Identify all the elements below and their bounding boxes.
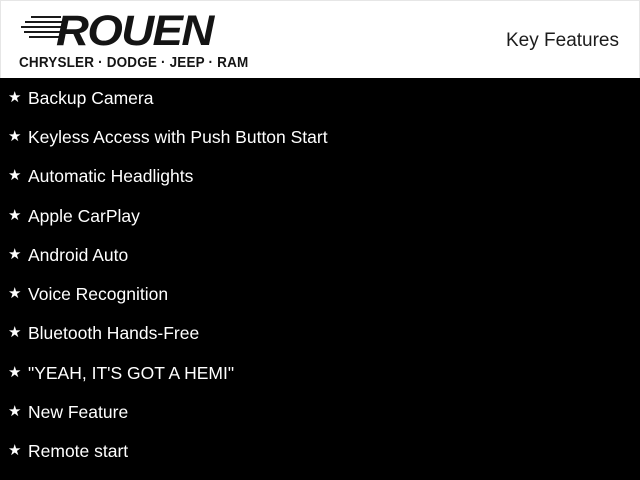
header-bar: ROUEN CHRYSLER · DODGE · JEEP · RAM Key … [0, 0, 640, 78]
feature-label: Backup Camera [28, 88, 640, 108]
list-item: ★ Android Auto [0, 235, 640, 274]
star-icon: ★ [8, 404, 28, 419]
logo-mark: ROUEN [15, 11, 215, 51]
list-item: ★ Remote start [0, 432, 640, 471]
feature-label: Bluetooth Hands-Free [28, 323, 640, 343]
star-icon: ★ [8, 247, 28, 262]
logo-wordmark: ROUEN [56, 9, 213, 53]
list-item: ★ Automatic Headlights [0, 157, 640, 196]
star-icon: ★ [8, 286, 28, 301]
star-icon: ★ [8, 365, 28, 380]
list-item: ★ Bluetooth Hands-Free [0, 314, 640, 353]
key-features-slide: ROUEN CHRYSLER · DODGE · JEEP · RAM Key … [0, 0, 640, 480]
list-item: ★ Keyless Access with Push Button Start [0, 117, 640, 156]
star-icon: ★ [8, 129, 28, 144]
feature-label: New Feature [28, 402, 640, 422]
feature-label: Keyless Access with Push Button Start [28, 127, 640, 147]
feature-label: Remote start [28, 441, 640, 461]
feature-label: Voice Recognition [28, 284, 640, 304]
list-item: ★ Apple CarPlay [0, 196, 640, 235]
list-item: ★ "YEAH, IT'S GOT A HEMI" [0, 353, 640, 392]
feature-label: Automatic Headlights [28, 166, 640, 186]
star-icon: ★ [8, 325, 28, 340]
list-item: ★ Backup Camera [0, 78, 640, 117]
feature-label: "YEAH, IT'S GOT A HEMI" [28, 363, 640, 383]
dealership-logo[interactable]: ROUEN CHRYSLER · DODGE · JEEP · RAM [15, 11, 215, 71]
star-icon: ★ [8, 90, 28, 105]
logo-subtitle: CHRYSLER · DODGE · JEEP · RAM [19, 55, 248, 71]
feature-label: Android Auto [28, 245, 640, 265]
star-icon: ★ [8, 443, 28, 458]
features-list: ★ Backup Camera ★ Keyless Access with Pu… [0, 78, 640, 480]
list-item: ★ New Feature [0, 392, 640, 431]
star-icon: ★ [8, 208, 28, 223]
list-item: ★ Voice Recognition [0, 274, 640, 313]
page-title: Key Features [506, 30, 619, 52]
feature-label: Apple CarPlay [28, 206, 640, 226]
star-icon: ★ [8, 168, 28, 183]
